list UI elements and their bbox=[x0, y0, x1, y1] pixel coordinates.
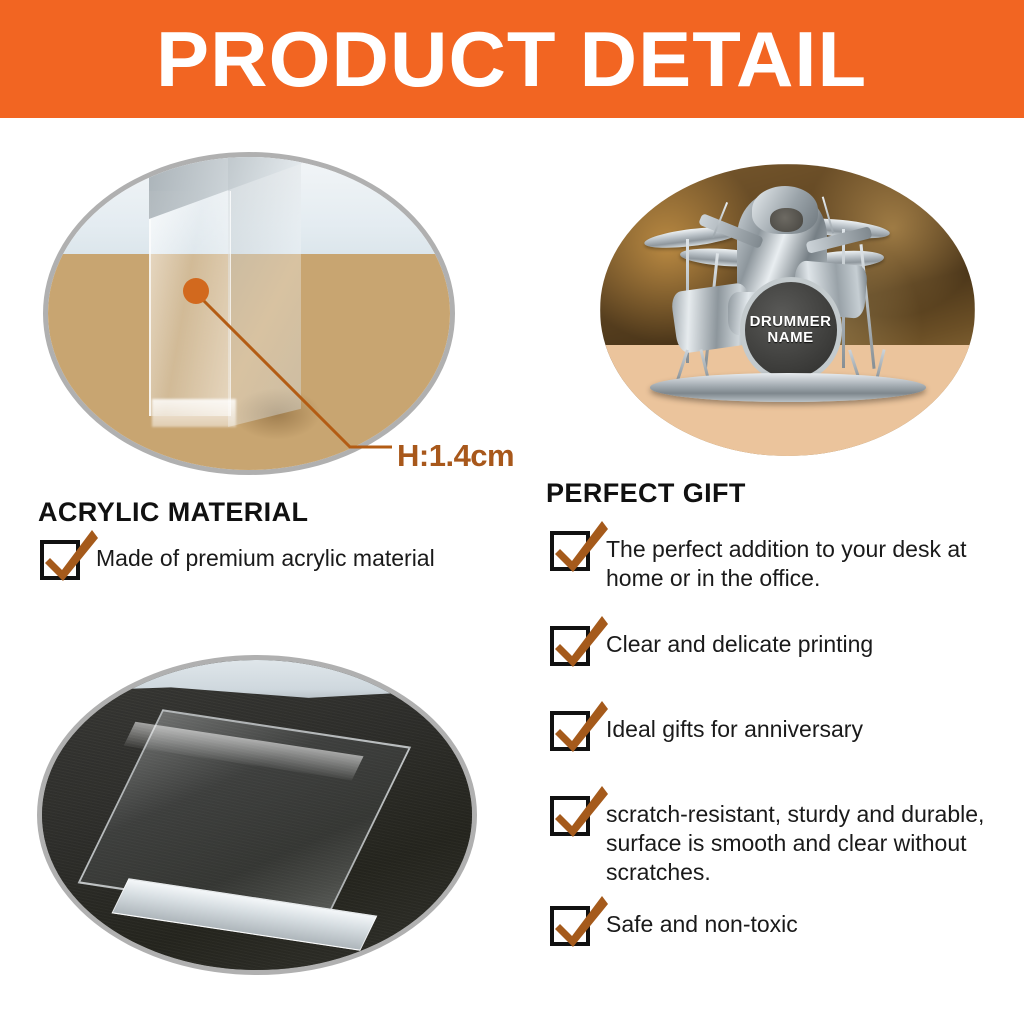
checkmark-icon bbox=[552, 699, 610, 755]
photo-acrylic-edge bbox=[43, 152, 455, 475]
checkbox-icon bbox=[550, 626, 590, 666]
photo-drummer-figurine: DRUMMER NAME bbox=[600, 164, 975, 456]
feature-text: The perfect addition to your desk at hom… bbox=[606, 531, 1006, 593]
acrylic-front-face bbox=[149, 191, 231, 416]
feature-item-gift-2: Clear and delicate printing bbox=[550, 626, 873, 666]
feature-item-gift-3: Ideal gifts for anniversary bbox=[550, 711, 863, 751]
photo-acrylic-block bbox=[37, 655, 477, 975]
heading-perfect-gift: PERFECT GIFT bbox=[546, 478, 746, 509]
checkbox-icon bbox=[550, 796, 590, 836]
checkmark-icon bbox=[552, 894, 610, 950]
feature-item-gift-4: scratch-resistant, sturdy and durable, s… bbox=[550, 796, 1006, 886]
checkmark-icon bbox=[552, 784, 610, 840]
bass-drum-label-line2: NAME bbox=[767, 330, 813, 346]
header-banner: PRODUCT DETAIL bbox=[0, 0, 1024, 118]
bass-drum-head: DRUMMER NAME bbox=[740, 277, 842, 382]
feature-text: scratch-resistant, sturdy and durable, s… bbox=[606, 796, 1006, 886]
figurine-base-plate bbox=[650, 373, 926, 402]
page-title: PRODUCT DETAIL bbox=[156, 20, 867, 98]
feature-text: Made of premium acrylic material bbox=[96, 540, 435, 573]
bass-drum-label-line1: DRUMMER bbox=[750, 314, 832, 330]
clear-acrylic-block bbox=[111, 728, 378, 902]
feature-item-acrylic-1: Made of premium acrylic material bbox=[40, 540, 435, 580]
checkbox-icon bbox=[550, 711, 590, 751]
feature-text: Safe and non-toxic bbox=[606, 906, 798, 939]
heading-acrylic-material: ACRYLIC MATERIAL bbox=[38, 497, 308, 528]
acrylic-base-highlight bbox=[152, 399, 236, 427]
checkbox-icon bbox=[550, 906, 590, 946]
feature-item-gift-5: Safe and non-toxic bbox=[550, 906, 798, 946]
checkmark-icon bbox=[552, 614, 610, 670]
feature-text: Clear and delicate printing bbox=[606, 626, 873, 659]
acrylic-block-standing bbox=[149, 157, 302, 439]
checkmark-icon bbox=[42, 528, 100, 584]
checkbox-icon bbox=[550, 531, 590, 571]
feature-item-gift-1: The perfect addition to your desk at hom… bbox=[550, 531, 1006, 593]
dimension-label: H:1.4cm bbox=[397, 438, 514, 474]
drummer-face bbox=[770, 208, 803, 232]
figurine-assembly: DRUMMER NAME bbox=[638, 182, 938, 421]
feature-text: Ideal gifts for anniversary bbox=[606, 711, 863, 744]
acrylic-side-face bbox=[228, 152, 301, 427]
checkbox-icon bbox=[40, 540, 80, 580]
checkmark-icon bbox=[552, 519, 610, 575]
